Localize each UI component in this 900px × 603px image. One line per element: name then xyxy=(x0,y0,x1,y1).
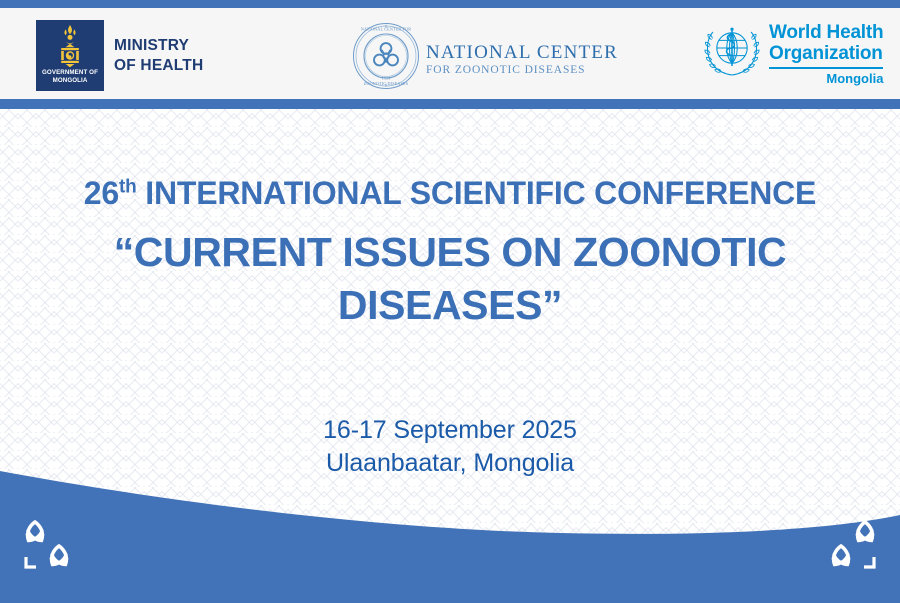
national-center-name-line1: NATIONAL CENTER xyxy=(426,42,618,63)
conference-ordinal: th xyxy=(119,176,137,197)
who-country-label: Mongolia xyxy=(769,71,883,86)
national-center-name: NATIONAL CENTER FOR ZOONOTIC DISEASES xyxy=(426,42,618,77)
conference-heading: 26th INTERNATIONAL SCIENTIFIC CONFERENCE xyxy=(0,172,900,214)
conference-number: 26 xyxy=(84,175,119,211)
title-block: 26th INTERNATIONAL SCIENTIFIC CONFERENCE… xyxy=(0,172,900,332)
who-logo: World Health Organization Mongolia xyxy=(703,21,883,86)
conference-title-slide: GOVERNMENT OF MONGOLIA MINISTRY OF HEALT… xyxy=(0,0,900,603)
biohazard-seal-icon: NATIONAL CENTER FOR ZOONOTIC DISEASES 19… xyxy=(352,22,420,90)
emblem-caption-line1: GOVERNMENT OF xyxy=(42,69,98,77)
national-center-name-line2: FOR ZOONOTIC DISEASES xyxy=(426,63,618,77)
event-date: 16-17 September 2025 xyxy=(0,414,900,447)
ministry-name-line2: OF HEALTH xyxy=(114,56,203,76)
header-divider-bar xyxy=(0,99,900,109)
national-center-logo: NATIONAL CENTER FOR ZOONOTIC DISEASES 19… xyxy=(352,22,618,90)
mongolia-soyombo-icon xyxy=(48,23,92,69)
ministry-name-line1: MINISTRY xyxy=(114,36,203,56)
government-of-mongolia-emblem: GOVERNMENT OF MONGOLIA xyxy=(36,20,104,91)
emblem-caption-line2: MONGOLIA xyxy=(53,77,88,85)
who-divider-rule xyxy=(769,67,883,69)
who-emblem-icon xyxy=(703,21,761,79)
svg-text:NATIONAL CENTER FOR: NATIONAL CENTER FOR xyxy=(361,27,411,32)
who-name-line1: World Health xyxy=(769,22,883,43)
page-title-line2: DISEASES” xyxy=(60,279,840,332)
ministry-of-health-logo: GOVERNMENT OF MONGOLIA MINISTRY OF HEALT… xyxy=(36,20,203,91)
top-accent-bar xyxy=(0,0,900,8)
ministry-of-health-name: MINISTRY OF HEALTH xyxy=(114,36,203,76)
bottom-wave-decoration xyxy=(0,463,900,603)
page-title-line1: “CURRENT ISSUES ON ZOONOTIC xyxy=(60,226,840,279)
conference-label: INTERNATIONAL SCIENTIFIC CONFERENCE xyxy=(145,175,816,211)
page-title: “CURRENT ISSUES ON ZOONOTIC DISEASES” xyxy=(0,226,900,332)
who-name-line2: Organization xyxy=(769,43,883,64)
who-name: World Health Organization Mongolia xyxy=(769,21,883,86)
mongolian-ulzii-knot-icon-right xyxy=(812,513,886,579)
mongolian-ulzii-knot-icon-left xyxy=(14,513,88,579)
svg-text:1931: 1931 xyxy=(382,75,391,80)
svg-text:ZOONOTIC DISEASES: ZOONOTIC DISEASES xyxy=(364,81,409,86)
